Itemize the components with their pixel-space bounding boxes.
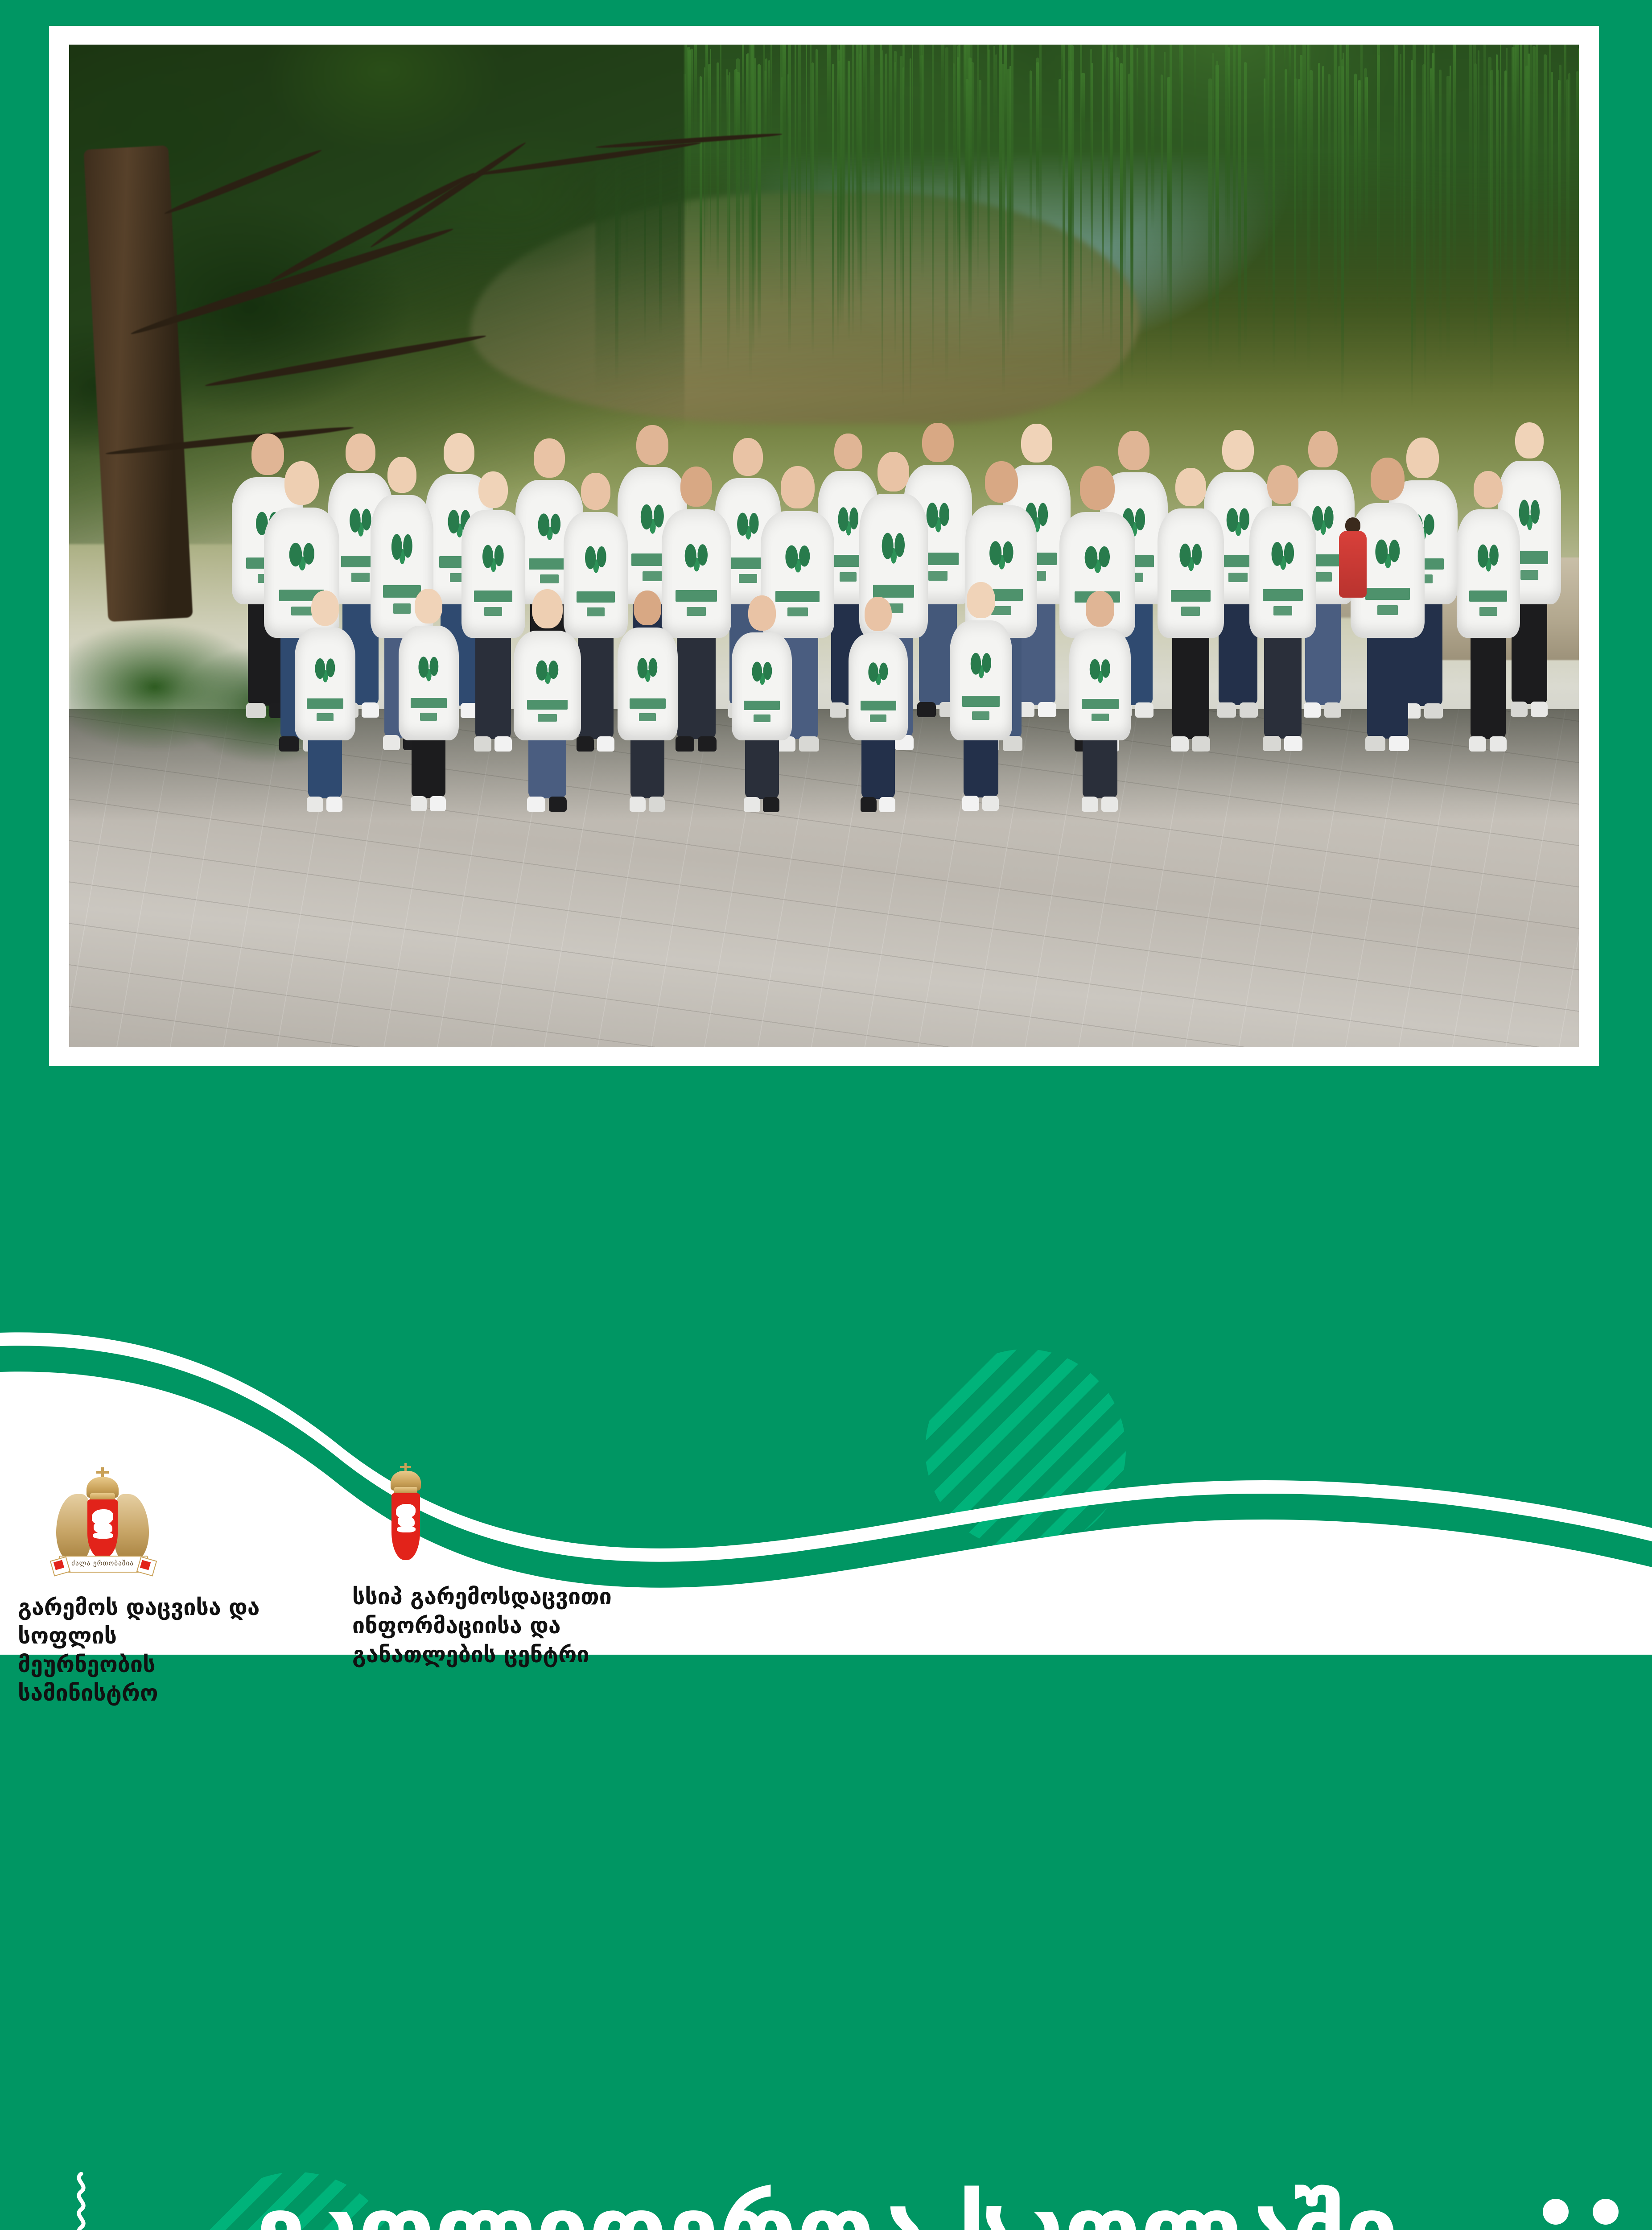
center-caption: სსიპ გარემოსდაცვითი ინფორმაციისა და განა… — [352, 1582, 664, 1669]
photo-tshirt — [1158, 508, 1224, 638]
footer-section: ძალა ერთობაშია გარემოს დაცვისა და სოფლის… — [0, 1378, 1652, 1650]
photo-person — [295, 578, 355, 821]
photo-tshirt — [1249, 506, 1317, 638]
ministry-caption-line-1: გარემოს დაცვისა და სოფლის — [18, 1593, 303, 1650]
photo-person — [1158, 454, 1224, 754]
coat-of-arms-motto: ძალა ერთობაშია — [69, 1559, 136, 1567]
photo-frame — [49, 26, 1599, 1066]
photo-tshirt — [618, 628, 678, 740]
photo-person — [950, 570, 1012, 821]
photo-tshirt — [514, 631, 581, 740]
photo-tshirt — [732, 632, 792, 740]
photo-person — [1069, 578, 1131, 821]
center-caption-line-3: განათლების ცენტრი — [352, 1640, 664, 1669]
photo-person — [618, 578, 678, 821]
photo-tshirt — [295, 628, 355, 740]
ministry-caption: გარემოს დაცვისა და სოფლის მეურნეობის სამ… — [18, 1593, 303, 1707]
center-caption-line-2: ინფორმაციისა და — [352, 1611, 664, 1640]
photo-tshirt — [399, 626, 459, 740]
center-logo-block: სსიპ გარემოსდაცვითი ინფორმაციისა და განა… — [352, 1463, 638, 1650]
photo-person — [399, 577, 459, 821]
photo-person — [849, 585, 908, 821]
title-line-1: ეკოლიდერთა სკოლაში — [0, 2176, 1652, 2230]
georgia-shield-emblem-icon — [367, 1463, 443, 1574]
photo-person — [1457, 458, 1520, 754]
photo-tshirt — [950, 620, 1012, 740]
center-caption-line-1: სსიპ გარემოსდაცვითი — [352, 1582, 664, 1611]
page-title: ეკოლიდერთა სკოლაში სწავლა დაიწყო — [0, 2176, 1652, 2230]
photo-person — [514, 575, 581, 821]
photo-bystander — [1335, 517, 1371, 624]
contact-line[interactable]: www.eiec.gov.ge | info@eiec.gov.ge — [945, 1597, 1545, 1635]
photo-person — [1249, 451, 1317, 754]
group-photo — [69, 45, 1579, 1047]
title-section: ეკოლიდერთა სკოლაში სწავლა დაიწყო — [0, 1070, 1652, 1383]
georgia-coat-of-arms-icon: ძალა ერთობაშია — [49, 1467, 156, 1579]
photo-tshirt — [1069, 628, 1131, 740]
photo-tshirt — [1457, 509, 1520, 638]
photo-willow-strands — [595, 45, 1579, 419]
ministry-caption-line-2: მეურნეობის სამინისტრო — [18, 1650, 303, 1707]
photo-tshirt — [849, 633, 908, 740]
photo-person — [732, 583, 792, 821]
ministry-logo-block: ძალა ერთობაშია გარემოს დაცვისა და სოფლის… — [18, 1467, 303, 1646]
